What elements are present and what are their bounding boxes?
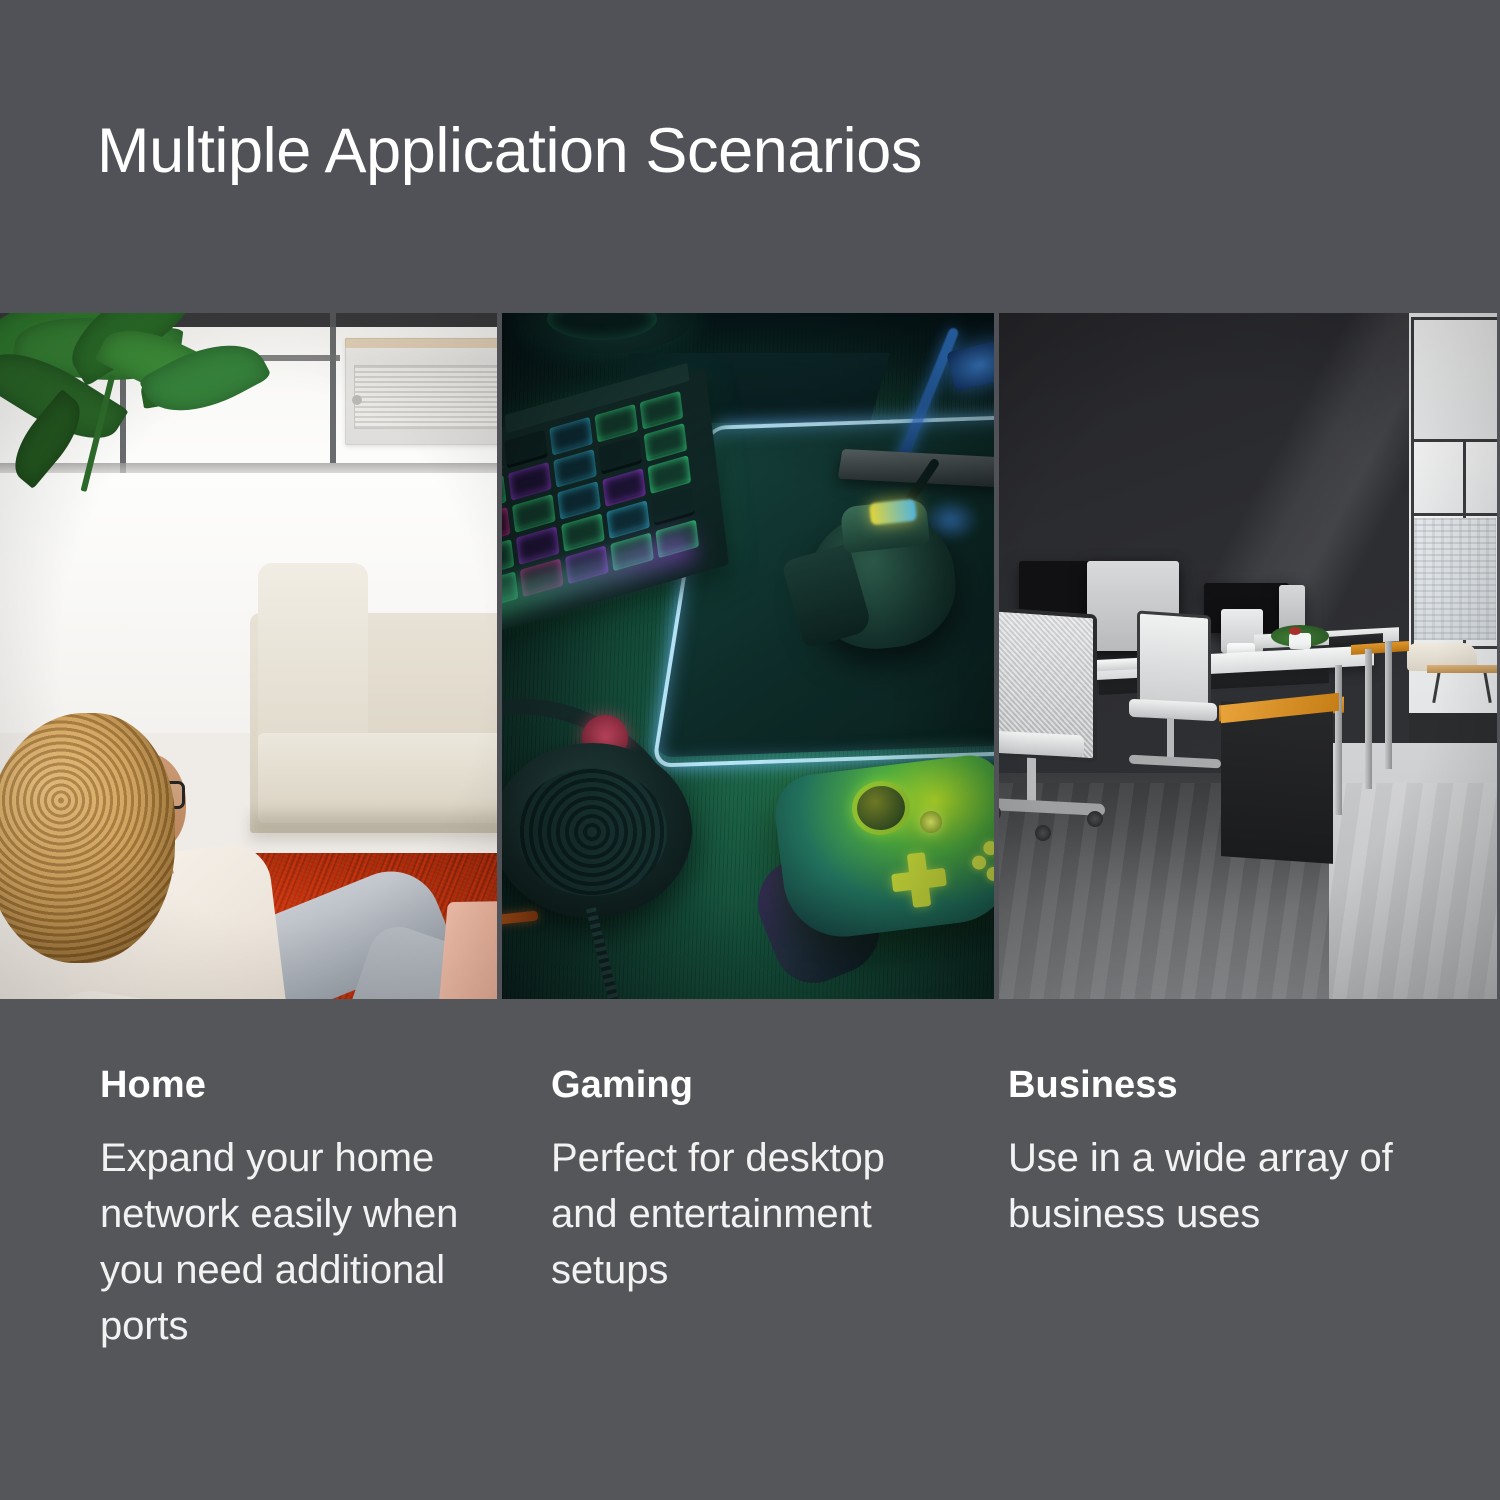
scenario-body-home: Expand your home network easily when you… bbox=[100, 1106, 490, 1354]
scenario-body-gaming: Perfect for desktop and entertainment se… bbox=[551, 1106, 921, 1298]
scenario-body-business: Use in a wide array of business uses bbox=[1008, 1106, 1408, 1242]
business-scene bbox=[999, 313, 1497, 999]
scenario-heading-gaming: Gaming bbox=[551, 999, 921, 1106]
scenario-heading-business: Business bbox=[1008, 999, 1408, 1106]
page-header: Multiple Application Scenarios bbox=[0, 0, 1500, 313]
scenario-heading-home: Home bbox=[100, 999, 490, 1106]
business-scenario-photo bbox=[999, 313, 1497, 999]
page-title: Multiple Application Scenarios bbox=[97, 118, 922, 184]
gaming-scene bbox=[502, 313, 994, 999]
scenario-image-band bbox=[0, 313, 1500, 999]
scenario-column-gaming: Gaming Perfect for desktop and entertain… bbox=[551, 999, 921, 1298]
home-scene bbox=[0, 313, 497, 999]
scenario-column-business: Business Use in a wide array of business… bbox=[1008, 999, 1408, 1242]
vignette bbox=[502, 313, 994, 999]
home-scenario-photo bbox=[0, 313, 497, 999]
scenario-captions: Home Expand your home network easily whe… bbox=[0, 999, 1500, 1500]
gaming-scenario-photo bbox=[502, 313, 994, 999]
vignette bbox=[999, 313, 1497, 999]
scenario-column-home: Home Expand your home network easily whe… bbox=[100, 999, 490, 1354]
vignette bbox=[0, 313, 497, 999]
